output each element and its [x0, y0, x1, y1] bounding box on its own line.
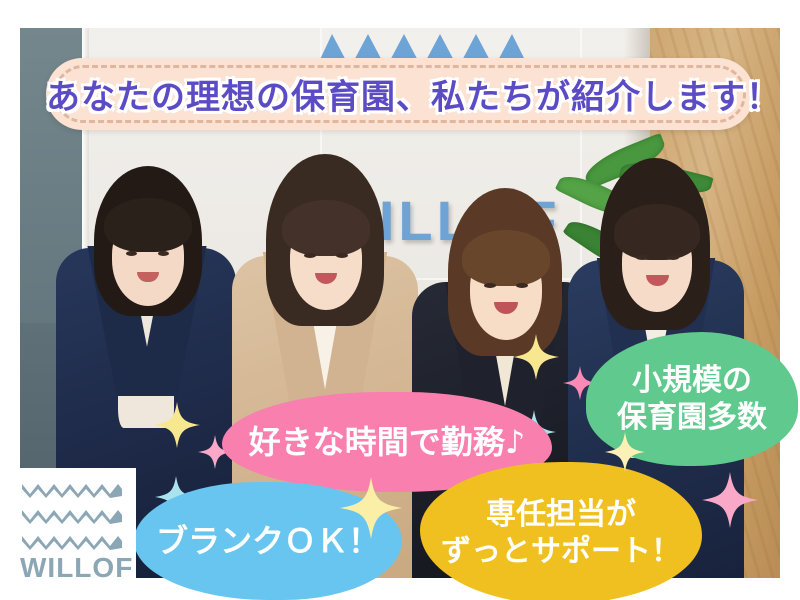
person-3-eye	[484, 283, 496, 288]
bubble-dedicated-support-line2: ずっとサポート！	[441, 533, 681, 571]
sparkle-icon	[605, 432, 645, 472]
bubble-flexible-hours-line1: 好きな時間で勤務♪	[249, 422, 525, 462]
person-3-hair-front	[462, 230, 550, 286]
person-4-eye	[667, 255, 679, 260]
person-1-hair-front	[104, 198, 192, 252]
person-1-eye	[158, 251, 169, 256]
sparkle-icon	[154, 402, 200, 448]
bubble-small-nursery-line2: 保育園多数	[617, 399, 767, 437]
person-4-eye	[636, 255, 648, 260]
person-2-hair-front	[282, 200, 370, 256]
willof-logo-wordmark: WILLOF	[20, 552, 133, 584]
advertisement-banner: WILLOF	[0, 0, 800, 600]
zigzag-icon	[22, 532, 122, 550]
sparkle-icon	[340, 477, 402, 539]
willof-logo[interactable]: WILLOF	[8, 468, 136, 592]
bubble-dedicated-support-line1: 専任担当が	[441, 496, 681, 534]
zigzag-icon	[22, 480, 122, 498]
person-3-eye	[516, 283, 528, 288]
headline-banner: あなたの理想の保育園、私たちが紹介します！	[46, 58, 754, 130]
zigzag-icon	[22, 506, 122, 524]
person-2-eye	[304, 253, 316, 258]
person-2-eye	[336, 253, 348, 258]
bubble-dedicated-support[interactable]: 専任担当が ずっとサポート！	[420, 462, 702, 600]
headline-text: あなたの理想の保育園、私たちが紹介します！	[46, 70, 754, 119]
bubble-small-nursery-line1: 小規模の	[617, 362, 767, 400]
sparkle-icon	[702, 472, 758, 528]
person-4-hair-front	[614, 204, 700, 260]
person-1-eye	[126, 251, 137, 256]
sparkle-icon	[513, 334, 559, 380]
